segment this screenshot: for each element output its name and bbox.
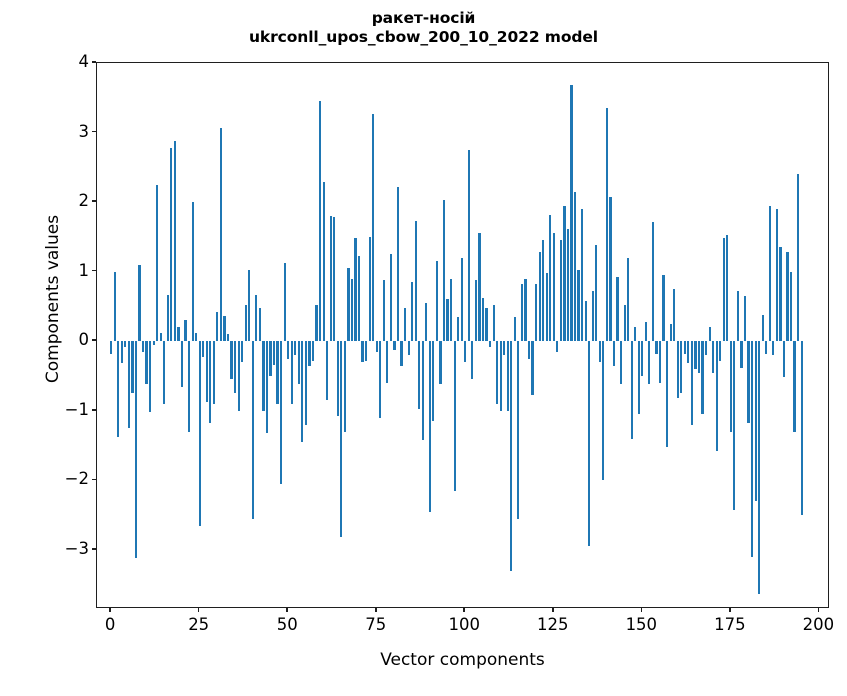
bar [305, 341, 307, 424]
bar [135, 341, 137, 557]
bar [241, 341, 243, 362]
bar [577, 270, 579, 341]
bar [677, 341, 679, 398]
bar [574, 192, 576, 342]
y-axis-label: Components values [43, 19, 63, 579]
bar [624, 305, 626, 341]
bar [553, 233, 555, 341]
bar [783, 341, 785, 377]
bar [291, 341, 293, 404]
bar [167, 295, 169, 341]
bar [269, 341, 271, 376]
bar [358, 256, 360, 341]
bar [149, 341, 151, 412]
bar [372, 114, 374, 341]
bar [563, 206, 565, 342]
bar [418, 341, 420, 409]
bar [234, 341, 236, 393]
bar [755, 341, 757, 501]
y-tick-mark [92, 548, 96, 550]
bar [482, 298, 484, 341]
bar [599, 341, 601, 362]
bar [195, 333, 197, 341]
bar [188, 341, 190, 431]
bar [340, 341, 342, 537]
bar [765, 341, 767, 354]
bar [726, 235, 728, 341]
y-tick-mark [92, 131, 96, 133]
bar [609, 197, 611, 342]
bar [691, 341, 693, 424]
bar [308, 341, 310, 365]
bar [326, 341, 328, 400]
x-tick-mark [198, 608, 200, 612]
x-tick-label: 25 [169, 617, 229, 634]
bar [747, 341, 749, 423]
bar [496, 341, 498, 404]
bar [209, 341, 211, 422]
bar [273, 341, 275, 365]
bar [528, 341, 530, 358]
x-tick-label: 50 [257, 617, 317, 634]
bar [117, 341, 119, 437]
x-tick-label: 125 [523, 617, 583, 634]
bar [648, 341, 650, 384]
bar [489, 341, 491, 347]
bar [422, 341, 424, 440]
bar [301, 341, 303, 442]
bar [673, 289, 675, 341]
bar [762, 315, 764, 341]
bar [758, 341, 760, 593]
bar [662, 275, 664, 341]
bar [698, 341, 700, 372]
x-tick-mark [375, 608, 377, 612]
bar [174, 141, 176, 341]
bar [478, 233, 480, 341]
bar [606, 108, 608, 341]
bar [298, 341, 300, 384]
bar [110, 341, 112, 354]
bar [613, 341, 615, 366]
bar [549, 215, 551, 342]
chart-title-model: ukrconll_upos_cbow_200_10_2022 model [0, 28, 847, 47]
bar [404, 308, 406, 341]
y-tick-mark [92, 200, 96, 202]
x-tick-mark [818, 608, 820, 612]
bar [142, 341, 144, 352]
bar [287, 341, 289, 358]
x-tick-mark [552, 608, 554, 612]
bar [220, 128, 222, 342]
bar [652, 222, 654, 342]
bar [570, 85, 572, 342]
bar [659, 341, 661, 383]
bar [227, 334, 229, 341]
bar [390, 254, 392, 342]
bar [255, 295, 257, 341]
bar [546, 273, 548, 341]
bar [793, 341, 795, 431]
bar [730, 341, 732, 431]
bar [595, 245, 597, 341]
bar [248, 270, 250, 341]
bar [245, 305, 247, 341]
plot-axes [96, 62, 829, 608]
bar [471, 341, 473, 379]
bar [294, 341, 296, 355]
bar [386, 341, 388, 383]
bar [585, 301, 587, 341]
bar [354, 238, 356, 341]
x-tick-label: 200 [788, 617, 847, 634]
bar [461, 258, 463, 341]
bar [602, 341, 604, 480]
matplotlib-figure: ракет-носій ukrconll_upos_cbow_200_10_20… [0, 0, 847, 696]
bar [517, 341, 519, 518]
x-axis-label: Vector components [96, 650, 829, 670]
bar [369, 237, 371, 341]
bar [655, 341, 657, 354]
bar [521, 284, 523, 341]
bar [751, 341, 753, 557]
bar [737, 291, 739, 341]
bar [779, 247, 781, 341]
bar [514, 317, 516, 341]
x-tick-label: 150 [611, 617, 671, 634]
x-tick-label: 175 [700, 617, 760, 634]
bar [705, 341, 707, 355]
x-tick-label: 75 [346, 617, 406, 634]
bar [588, 341, 590, 546]
bar [797, 174, 799, 341]
bar [192, 202, 194, 341]
bar [376, 341, 378, 351]
bar [206, 341, 208, 402]
bar [337, 341, 339, 416]
bar [641, 341, 643, 376]
bar [319, 101, 321, 342]
chart-title-word: ракет-носій [0, 9, 847, 28]
bar [454, 341, 456, 491]
bar [333, 217, 335, 341]
bar [397, 187, 399, 341]
x-tick-mark [286, 608, 288, 612]
bar [531, 341, 533, 395]
bar [425, 303, 427, 341]
bar [524, 279, 526, 342]
bar [801, 341, 803, 515]
bar [535, 284, 537, 341]
x-tick-label: 0 [80, 617, 140, 634]
bar [539, 252, 541, 341]
bar [114, 272, 116, 342]
bar [199, 341, 201, 525]
bar [177, 327, 179, 341]
bar [716, 341, 718, 451]
bar [170, 148, 172, 341]
bar [631, 341, 633, 438]
bar [383, 280, 385, 341]
bar [400, 341, 402, 365]
bar [344, 341, 346, 431]
bar [670, 324, 672, 341]
x-tick-mark [109, 608, 111, 612]
x-tick-label: 100 [434, 617, 494, 634]
bar [131, 341, 133, 393]
bar [687, 341, 689, 363]
bar [723, 238, 725, 341]
bar [503, 341, 505, 355]
bar [645, 322, 647, 341]
bar [330, 216, 332, 341]
bar [493, 305, 495, 341]
bar [436, 261, 438, 341]
bar [666, 341, 668, 447]
bar [121, 341, 123, 363]
x-tick-mark [729, 608, 731, 612]
bar [393, 341, 395, 349]
bar [634, 327, 636, 341]
bar [216, 312, 218, 341]
bar [184, 320, 186, 341]
bar [744, 296, 746, 341]
bar [769, 206, 771, 342]
bar [284, 263, 286, 341]
bar [620, 341, 622, 384]
bar [312, 341, 314, 360]
bar [560, 240, 562, 341]
bar [351, 279, 353, 342]
bar [213, 341, 215, 404]
bar [238, 341, 240, 411]
bar [315, 305, 317, 341]
bar [592, 291, 594, 341]
bar [772, 341, 774, 355]
bar [616, 277, 618, 341]
bar [266, 341, 268, 433]
bar [202, 341, 204, 356]
bar [432, 341, 434, 421]
bar [786, 252, 788, 341]
bar [567, 229, 569, 342]
bar [694, 341, 696, 369]
bar [262, 341, 264, 411]
bar [145, 341, 147, 384]
y-tick-mark [92, 409, 96, 411]
bar [468, 150, 470, 341]
bar [160, 333, 162, 341]
bar [323, 182, 325, 341]
bar [347, 268, 349, 341]
bar [280, 341, 282, 484]
bar-series [97, 63, 829, 608]
bar [740, 341, 742, 367]
y-tick-mark [92, 479, 96, 481]
bar [475, 280, 477, 341]
bar [485, 308, 487, 341]
bar [507, 341, 509, 411]
bar [153, 341, 155, 344]
bar [252, 341, 254, 518]
bar [719, 341, 721, 360]
x-tick-mark [641, 608, 643, 612]
bar [684, 341, 686, 354]
bar [230, 341, 232, 379]
bar [429, 341, 431, 511]
bar [415, 221, 417, 341]
bar [379, 341, 381, 418]
bar [128, 341, 130, 428]
chart-title: ракет-носій ukrconll_upos_cbow_200_10_20… [0, 9, 847, 47]
bar [223, 316, 225, 341]
bar [701, 341, 703, 414]
bar [365, 341, 367, 360]
bar [446, 299, 448, 341]
bar [712, 341, 714, 372]
bar [276, 341, 278, 404]
bar [443, 200, 445, 341]
bar [156, 185, 158, 341]
bar [361, 341, 363, 362]
bar [163, 341, 165, 404]
bar [439, 341, 441, 384]
bar [138, 265, 140, 342]
bar [556, 341, 558, 351]
bar [500, 341, 502, 411]
bar [181, 341, 183, 387]
bar [510, 341, 512, 571]
bar [581, 209, 583, 341]
bar [450, 279, 452, 342]
bar [464, 341, 466, 362]
x-tick-mark [463, 608, 465, 612]
y-tick-mark [92, 61, 96, 63]
bar [408, 341, 410, 355]
bar [733, 341, 735, 509]
bar [776, 209, 778, 341]
y-tick-mark [92, 270, 96, 272]
bar [411, 282, 413, 341]
y-tick-mark [92, 339, 96, 341]
bar [259, 308, 261, 341]
bar [790, 272, 792, 342]
bar [124, 341, 126, 347]
bar [627, 258, 629, 341]
bar [542, 240, 544, 341]
bar [638, 341, 640, 414]
bar [680, 341, 682, 393]
bar [457, 317, 459, 341]
bar [709, 327, 711, 341]
